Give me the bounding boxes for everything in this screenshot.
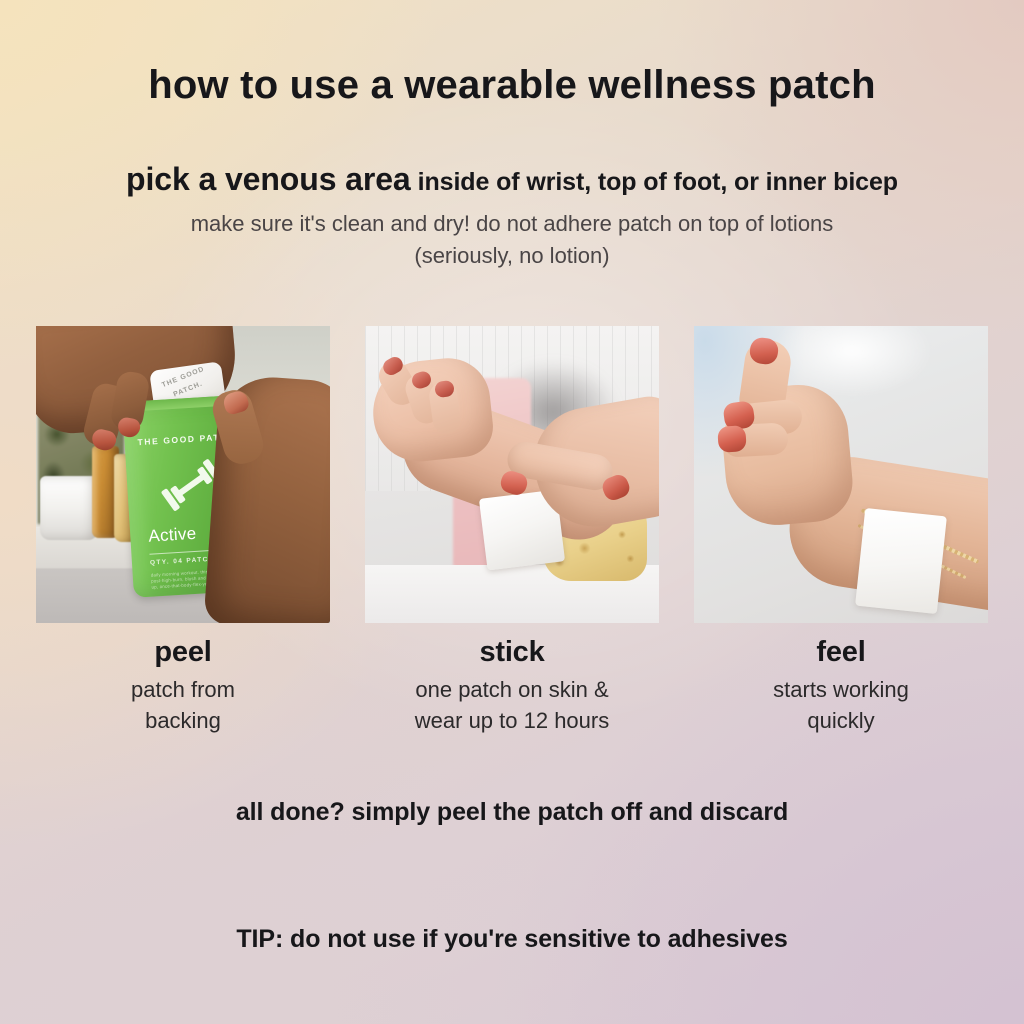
peel-photo-cream-jar: [40, 476, 98, 540]
page-title: how to use a wearable wellness patch: [0, 62, 1024, 108]
tip-line: TIP: do not use if you're sensitive to a…: [0, 925, 1024, 954]
step-desc-peel: patch from backing: [36, 674, 330, 736]
step-photo-feel: [694, 326, 988, 623]
feel-photo-worn-patch: [855, 508, 947, 614]
infographic-page: how to use a wearable wellness patch pic…: [0, 0, 1024, 1024]
cleanliness-note-text: make sure it's clean and dry! do not adh…: [191, 211, 834, 268]
step-photo-peel: THE GOOD PATCH. THE GOOD PATCH. Active Q…: [36, 326, 330, 623]
step-photo-stick: [365, 326, 659, 623]
step-desc-feel: starts working quickly: [694, 674, 988, 736]
step-title-feel: feel: [694, 634, 988, 670]
venous-area-emphasis: pick a venous area: [126, 161, 411, 197]
step-caption-feel: feel starts working quickly: [694, 634, 988, 737]
venous-area-line: pick a venous areainside of wrist, top o…: [0, 160, 1024, 198]
cleanliness-note: make sure it's clean and dry! do not adh…: [0, 208, 1024, 272]
step-caption-stick: stick one patch on skin & wear up to 12 …: [365, 634, 659, 737]
step-photo-row: THE GOOD PATCH. THE GOOD PATCH. Active Q…: [36, 326, 988, 623]
step-title-peel: peel: [36, 634, 330, 670]
step-caption-row: peel patch from backing stick one patch …: [36, 634, 988, 737]
step-desc-stick: one patch on skin & wear up to 12 hours: [365, 674, 659, 736]
venous-area-detail: inside of wrist, top of foot, or inner b…: [418, 168, 898, 196]
pouch-variant-label: Active: [148, 524, 197, 547]
feel-photo-nail-2: [717, 425, 747, 453]
step-caption-peel: peel patch from backing: [36, 634, 330, 737]
all-done-line: all done? simply peel the patch off and …: [0, 798, 1024, 827]
step-title-stick: stick: [365, 634, 659, 670]
